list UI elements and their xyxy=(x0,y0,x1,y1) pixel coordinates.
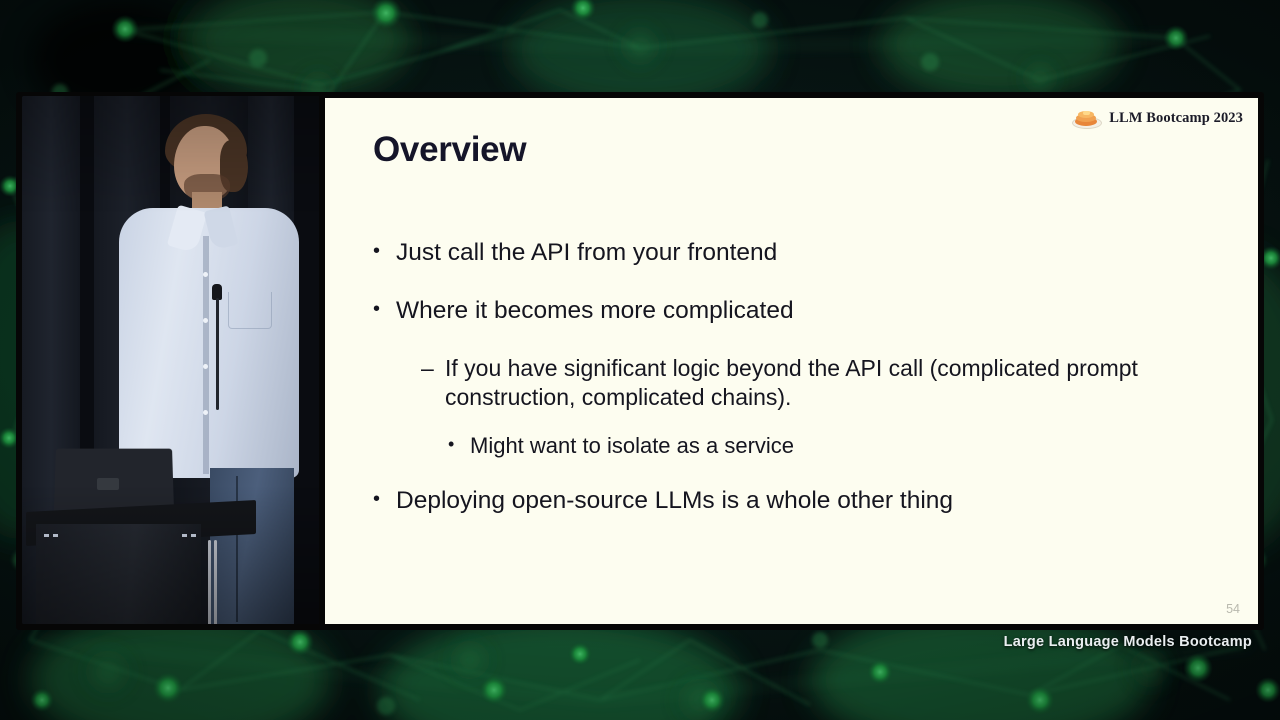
podium-cable xyxy=(208,540,211,624)
shirt-button xyxy=(203,364,208,369)
speaker-shirt xyxy=(119,208,299,478)
podium-led xyxy=(53,534,58,537)
speaker-video[interactable] xyxy=(22,96,325,624)
jeans-seam xyxy=(236,476,238,622)
bullet-marker: – xyxy=(421,354,445,383)
slide-logo-text: LLM Bootcamp 2023 xyxy=(1109,110,1243,127)
slide-page-number: 54 xyxy=(1226,602,1240,616)
bullet-item: • Might want to isolate as a service xyxy=(373,432,1228,460)
speaker-jeans xyxy=(210,468,294,624)
podium-led xyxy=(44,534,49,537)
shirt-button xyxy=(203,410,208,415)
bullet-text: Just call the API from your frontend xyxy=(396,238,1228,269)
bullet-item: • Just call the API from your frontend xyxy=(373,238,1228,269)
video-player-stage: LLM Bootcamp 2023 Overview • Just call t… xyxy=(0,0,1280,720)
bullet-text: Where it becomes more complicated xyxy=(396,296,1228,327)
slide-logo: LLM Bootcamp 2023 xyxy=(1072,106,1243,130)
presentation-slide[interactable]: LLM Bootcamp 2023 Overview • Just call t… xyxy=(325,98,1258,624)
bullet-item: • Where it becomes more complicated xyxy=(373,296,1228,327)
footer-caption: Large Language Models Bootcamp xyxy=(1004,634,1252,650)
slide-title: Overview xyxy=(373,130,526,170)
laptop-logo xyxy=(97,478,119,490)
podium-led xyxy=(182,534,187,537)
pancake-butter xyxy=(1083,111,1090,115)
bullet-text: If you have significant logic beyond the… xyxy=(445,354,1228,412)
shirt-button xyxy=(203,318,208,323)
bullet-item: – If you have significant logic beyond t… xyxy=(373,354,1228,412)
bullet-text: Might want to isolate as a service xyxy=(470,432,1228,460)
podium-cable xyxy=(214,540,217,624)
bullet-marker: • xyxy=(373,296,396,323)
shirt-button xyxy=(203,272,208,277)
slide-bullet-list: • Just call the API from your frontend •… xyxy=(373,238,1228,544)
bullet-marker: • xyxy=(373,238,396,265)
bullet-marker: • xyxy=(373,486,396,513)
bullet-item: • Deploying open-source LLMs is a whole … xyxy=(373,486,1228,517)
bullet-marker: • xyxy=(448,432,470,457)
podium-body xyxy=(36,524,201,624)
video-frame-content xyxy=(22,96,325,624)
speaker-shirt-pocket xyxy=(228,292,272,329)
bullet-text: Deploying open-source LLMs is a whole ot… xyxy=(396,486,1228,517)
pancake-stack-icon xyxy=(1072,106,1100,130)
microphone-cord xyxy=(216,298,219,410)
podium-led xyxy=(191,534,196,537)
